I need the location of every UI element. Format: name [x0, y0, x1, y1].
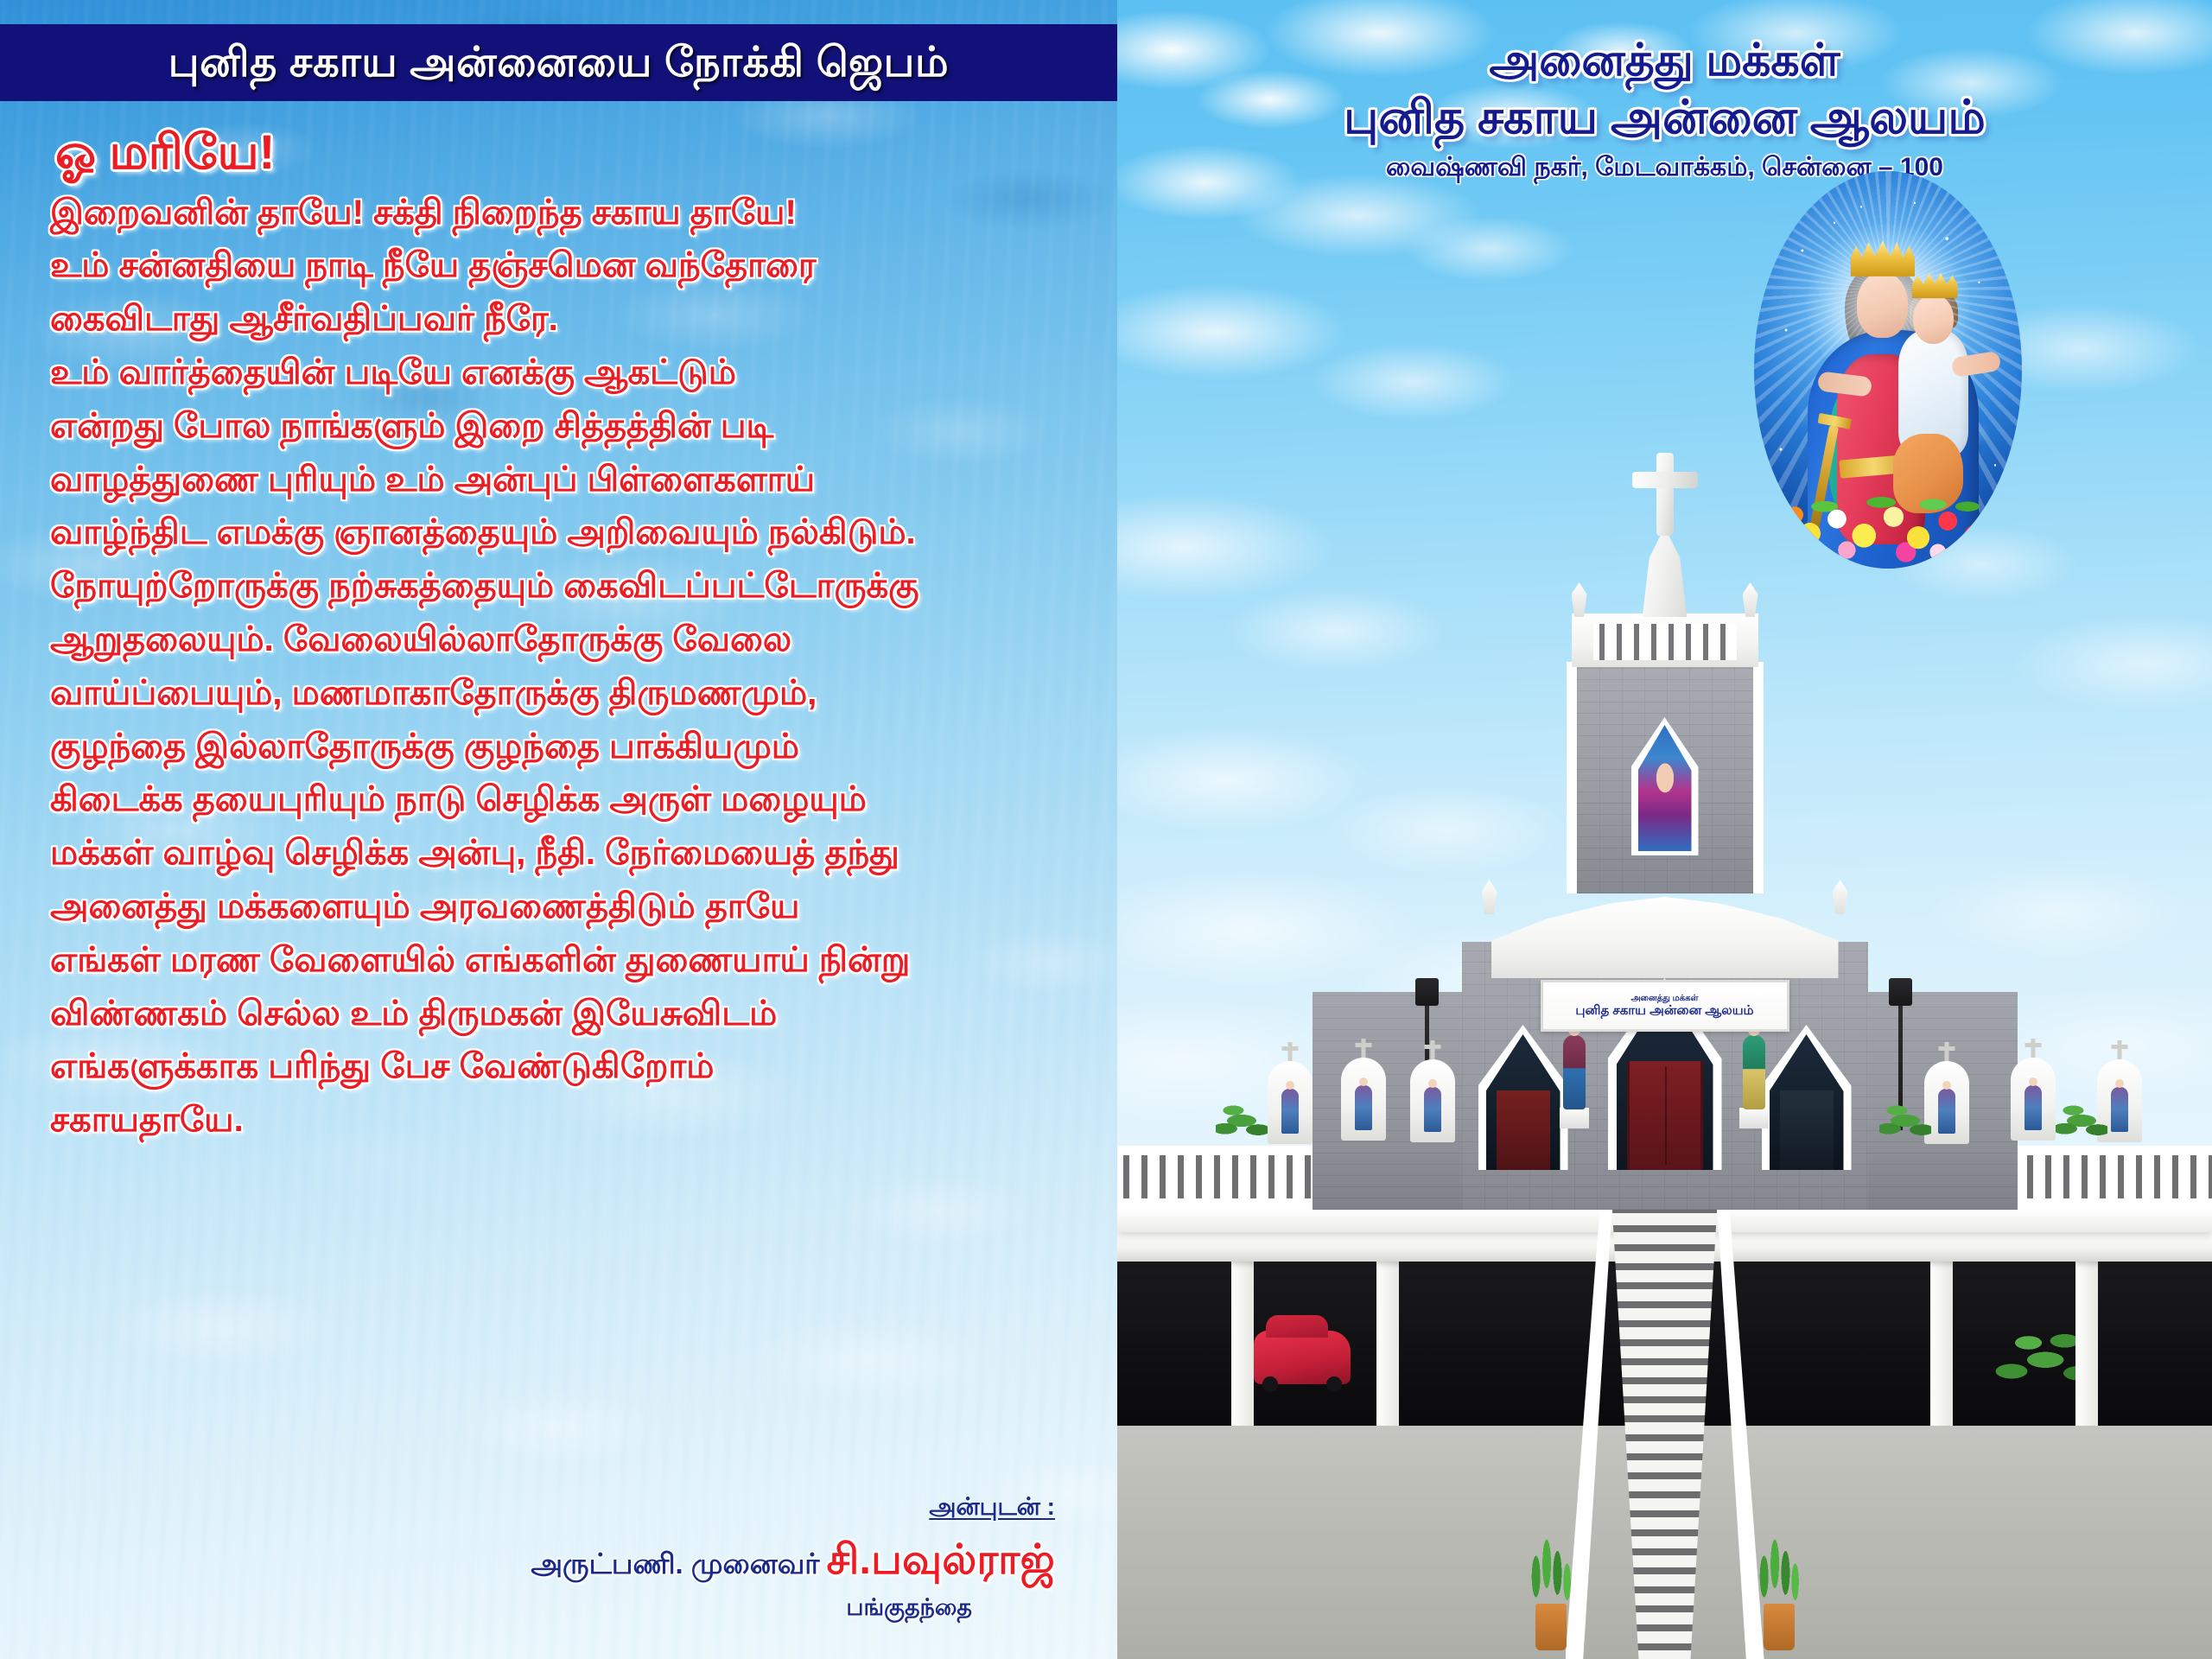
shrine-cross-icon — [1287, 1042, 1292, 1061]
stair-planter-right — [1764, 1604, 1795, 1650]
saint-statue-right — [1743, 1035, 1765, 1109]
shrine-cross-icon — [1361, 1039, 1365, 1058]
prayer-line-list: இறைவனின் தாயே! சக்தி நிறைந்த சகாய தாயே!உ… — [50, 187, 1070, 1147]
statue-pedestal-left — [1560, 1108, 1589, 1128]
shrine-cross-icon — [1944, 1042, 1948, 1061]
shrine-statue — [1281, 1089, 1299, 1134]
church-title-line-1: அனைத்து மக்கள் — [1117, 36, 2212, 86]
child-head — [1913, 295, 1954, 345]
prayer-line: வாய்ப்பையும், மணமாகாதோருக்கு திருமணமும், — [50, 667, 1070, 721]
signboard-main-text: புனித சகாய அன்னை ஆலயம் — [1575, 1004, 1753, 1017]
flower-bouquet — [1770, 469, 2017, 569]
facade-gable — [1491, 893, 1839, 978]
church-title-line-2: புனித சகாய அன்னை ஆலயம் — [1117, 92, 2212, 143]
belfry-finial-left — [1572, 582, 1587, 617]
palm-plant — [1216, 1092, 1268, 1149]
church-header: அனைத்து மக்கள் புனித சகாய அன்னை ஆலயம் வை… — [1117, 36, 2212, 186]
signature-name: சி.பவுல்ராஜ் — [827, 1536, 1055, 1589]
prayer-line: கிடைக்க தயைபுரியும் நாடு செழிக்க அருள் ம… — [50, 773, 1070, 827]
statue-pedestal-right — [1739, 1108, 1769, 1128]
grotto-shrine — [1341, 1058, 1386, 1141]
prayer-line: இறைவனின் தாயே! சக்தி நிறைந்த சகாய தாயே! — [50, 187, 1070, 240]
prayer-line: மக்கள் வாழ்வு செழிக்க அன்பு, நீதி. நேர்ம… — [50, 827, 1070, 880]
prayer-line: வாழ்ந்திட எமக்கு ஞானத்தையும் அறிவையும் ந… — [50, 506, 1070, 560]
prayer-panel: புனித சகாய அன்னையை நோக்கி ஜெபம் ஓ மரியே!… — [0, 0, 1117, 1659]
church-signboard: அனைத்து மக்கள் புனித சகாய அன்னை ஆலயம் — [1541, 980, 1789, 1032]
grotto-shrine — [1410, 1059, 1455, 1142]
prayer-line: அனைத்து மக்களையும் அரவணைத்திடும் தாயே — [50, 880, 1070, 934]
shrine-statue — [1355, 1085, 1372, 1130]
garage-pillar — [2075, 1253, 2098, 1426]
tower-spire — [1636, 527, 1694, 617]
prayer-title: புனித சகாய அன்னையை நோக்கி ஜெபம் — [168, 42, 949, 84]
prayer-card: புனித சகாய அன்னையை நோக்கி ஜெபம் ஓ மரியே!… — [0, 0, 2212, 1659]
palm-plant — [1879, 1092, 1931, 1149]
prayer-line: என்றது போல நாங்களும் இறை சித்தத்தின் படி — [50, 400, 1070, 454]
prayer-line: விண்ணகம் செல்ல உம் திருமகன் இயேசுவிடம் — [50, 988, 1070, 1041]
prayer-line: உம் வார்த்தையின் படியே எனக்கு ஆகட்டும் — [50, 346, 1070, 400]
shrine-statue — [1938, 1089, 1955, 1134]
grotto-shrine — [1268, 1061, 1313, 1144]
garage-pillar — [1930, 1253, 1953, 1426]
church-address: வைஷ்ணவி நகர், மேடவாக்கம், சென்னை – 100 — [1117, 153, 2212, 186]
belfry-louvers — [1593, 624, 1737, 660]
church-building: அனைத்து மக்கள் புனித சகாய அன்னை ஆலயம் — [1117, 562, 2212, 1659]
prayer-line: குழந்தை இல்லாதோருக்கு குழந்தை பாக்கியமும… — [50, 721, 1070, 774]
prayer-salutation: ஓ மரியே! — [55, 121, 1070, 183]
shrine-statue — [2024, 1085, 2042, 1130]
prayer-line: உம் சன்னதியை நாடி நீயே தஞ்சமென வந்தோரை — [50, 239, 1070, 293]
mary-crown-icon — [1851, 241, 1915, 276]
prayer-line: எங்கள் மரண வேளையில் எங்களின் துணையாய் நி… — [50, 934, 1070, 988]
palm-plant — [2056, 1092, 2107, 1149]
church-photo-panel: அனைத்து மக்கள் புனித சகாய அன்னை ஆலயம் வை… — [1117, 0, 2212, 1659]
signature-block: அன்புடன் : அருட்பணி. முனைவர் சி.பவுல்ராஜ… — [531, 1493, 1055, 1624]
garage-pillar — [1231, 1253, 1254, 1426]
signature-regards: அன்புடன் : — [531, 1493, 1055, 1524]
garage-pillar — [1376, 1253, 1399, 1426]
belfry-finial-right — [1743, 582, 1758, 617]
signature-role: பங்குதந்தை — [531, 1594, 972, 1624]
side-door-left — [1497, 1090, 1550, 1170]
marian-medallion — [1754, 171, 2022, 569]
prayer-line: வாழத்துணை புரியும் உம் அன்புப் பிள்ளைகளா… — [50, 454, 1070, 507]
main-entrance-door — [1627, 1061, 1703, 1170]
prayer-body: ஓ மரியே! இறைவனின் தாயே! சக்தி நிறைந்த சக… — [50, 121, 1070, 1147]
gable-finial-left — [1482, 880, 1497, 914]
prayer-line: சகாயதாயே. — [50, 1094, 1070, 1147]
signature-name-row: அருட்பணி. முனைவர் சி.பவுல்ராஜ் — [531, 1536, 1055, 1589]
grotto-shrine — [2011, 1058, 2056, 1141]
prayer-line: நோயுற்றோருக்கு நற்சுகத்தையும் கைவிடப்பட்… — [50, 560, 1070, 613]
side-door-right — [1780, 1090, 1834, 1170]
rooftop-cross-icon — [1656, 453, 1674, 536]
signature-title: அருட்பணி. முனைவர் — [531, 1548, 819, 1585]
stair-planter-left — [1535, 1604, 1567, 1650]
mary-head — [1857, 272, 1908, 338]
prayer-title-band: புனித சகாய அன்னையை நோக்கி ஜெபம் — [0, 24, 1117, 101]
signboard-small-text: அனைத்து மக்கள் — [1630, 995, 1698, 1003]
shrine-statue — [1424, 1087, 1441, 1132]
saint-statue-left — [1563, 1035, 1586, 1109]
shrine-cross-icon — [2031, 1039, 2035, 1058]
shrine-statue — [2111, 1087, 2128, 1132]
prayer-line: ஆறுதலையும். வேலையில்லாதோருக்கு வேலை — [50, 613, 1070, 667]
shrine-cross-icon — [1430, 1040, 1434, 1059]
shrine-cross-icon — [2117, 1040, 2121, 1059]
gable-finial-right — [1833, 880, 1848, 914]
prayer-line: கைவிடாது ஆசீர்வதிப்பவர் நீரே. — [50, 293, 1070, 346]
child-crown-icon — [1912, 272, 1958, 298]
prayer-line: எங்களுக்காக பரிந்து பேச வேண்டுகிறோம் — [50, 1040, 1070, 1094]
parked-car — [1254, 1331, 1351, 1384]
